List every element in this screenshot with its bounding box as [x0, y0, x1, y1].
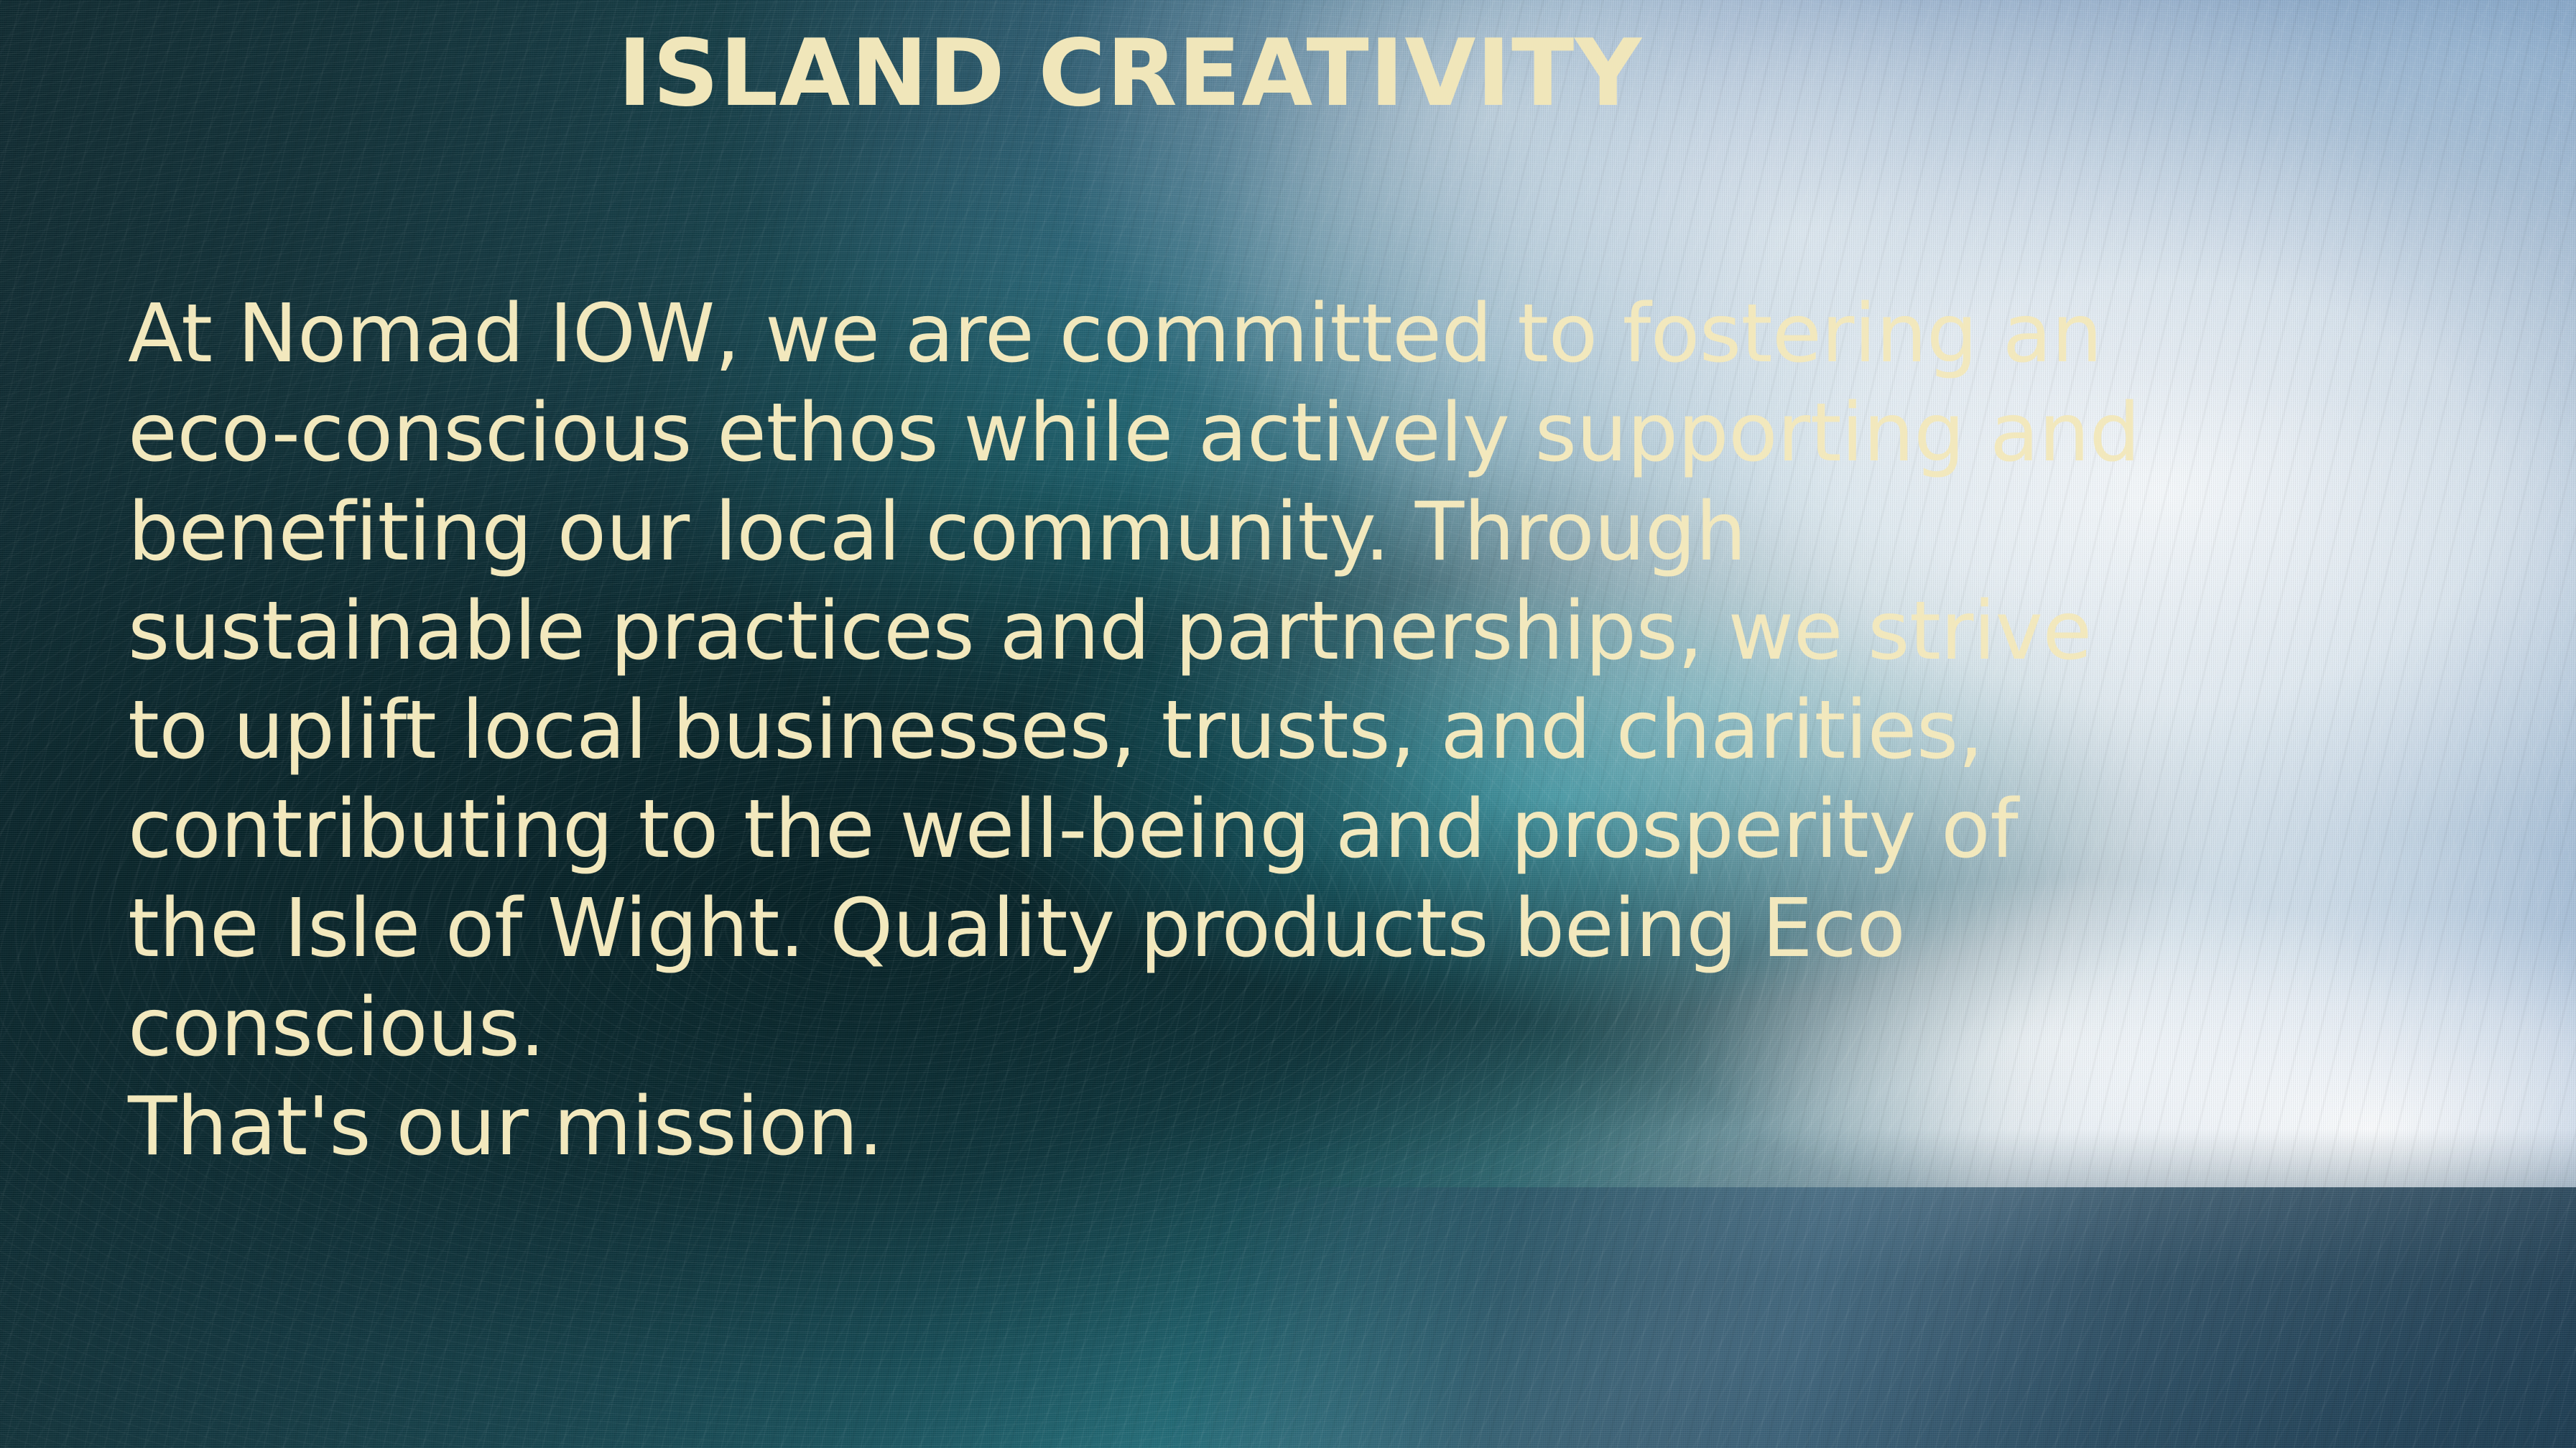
page-title: ISLAND CREATIVITY	[0, 24, 2576, 124]
mission-line: eco-conscious ethos while actively suppo…	[128, 384, 2470, 483]
slide-canvas: ISLAND CREATIVITY At Nomad IOW, we are c…	[0, 0, 2576, 1448]
mission-line: the Isle of Wight. Quality products bein…	[128, 879, 2470, 978]
mission-line: conscious.	[128, 978, 2470, 1077]
mission-statement-block: At Nomad IOW, we are committed to foster…	[128, 284, 2470, 1176]
text-overlay: ISLAND CREATIVITY At Nomad IOW, we are c…	[0, 0, 2576, 1448]
mission-line: benefiting our local community. Through	[128, 483, 2470, 582]
mission-line: contributing to the well-being and prosp…	[128, 780, 2470, 879]
mission-line: to uplift local businesses, trusts, and …	[128, 681, 2470, 780]
mission-closing-line: That's our mission.	[128, 1077, 2470, 1176]
mission-line: At Nomad IOW, we are committed to foster…	[128, 284, 2470, 384]
mission-line: sustainable practices and partnerships, …	[128, 582, 2470, 681]
